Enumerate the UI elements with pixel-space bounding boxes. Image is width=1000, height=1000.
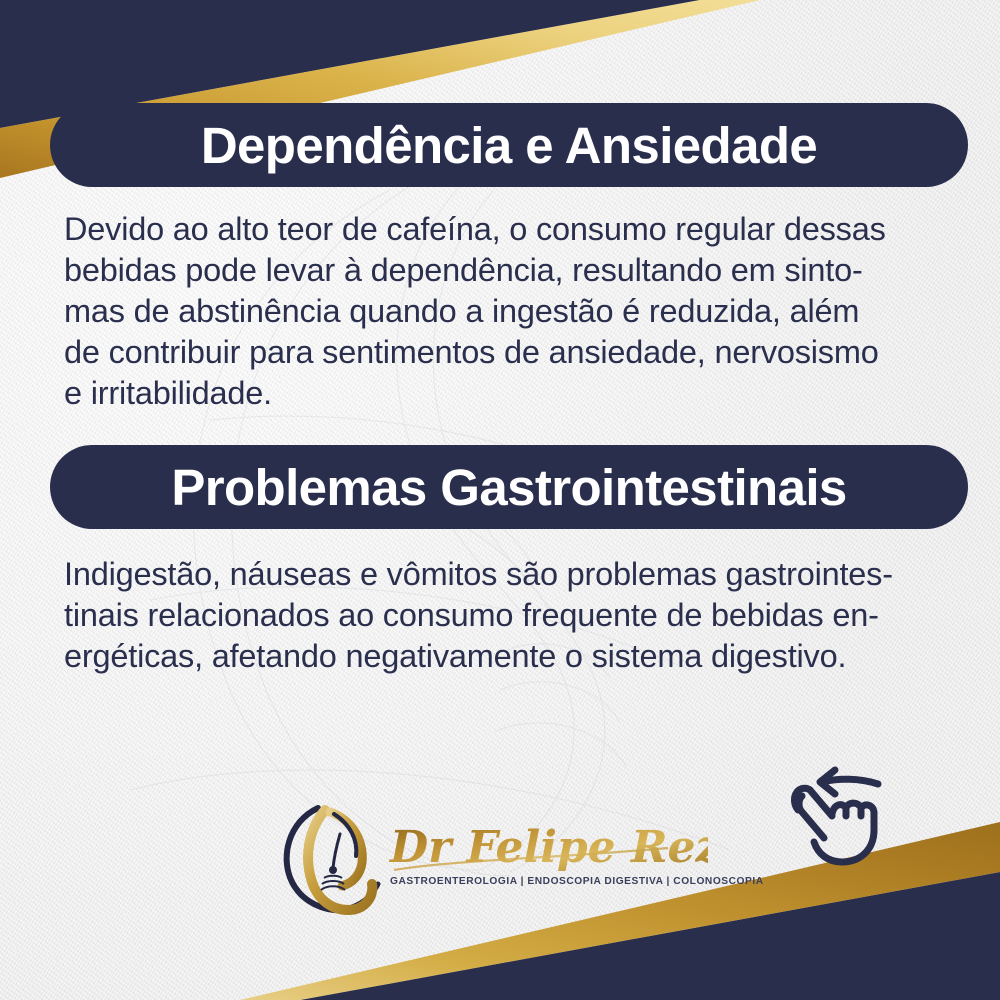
- swipe-left-hand-icon[interactable]: [780, 758, 900, 876]
- fr-monogram-icon: [278, 800, 390, 916]
- brand-tagline: GASTROENTEROLOGIA | ENDOSCOPIA DIGESTIVA…: [390, 876, 700, 887]
- section-body-gastrointestinais: Indigestão, náuseas e vômitos são proble…: [64, 554, 950, 677]
- brand-logo: Dr Felipe Rezende GASTROENTEROLOGIA | EN…: [278, 798, 708, 916]
- section-heading-pill-dependencia: Dependência e Ansiedade: [50, 103, 968, 187]
- social-post-slide: Dependência e Ansiedade Devido ao alto t…: [0, 0, 1000, 1000]
- section-heading-pill-gastrointestinais: Problemas Gastrointestinais: [50, 445, 968, 529]
- section-heading-text: Problemas Gastrointestinais: [171, 462, 846, 513]
- section-heading-text: Dependência e Ansiedade: [201, 120, 817, 171]
- section-body-dependencia: Devido ao alto teor de cafeína, o consum…: [64, 209, 950, 414]
